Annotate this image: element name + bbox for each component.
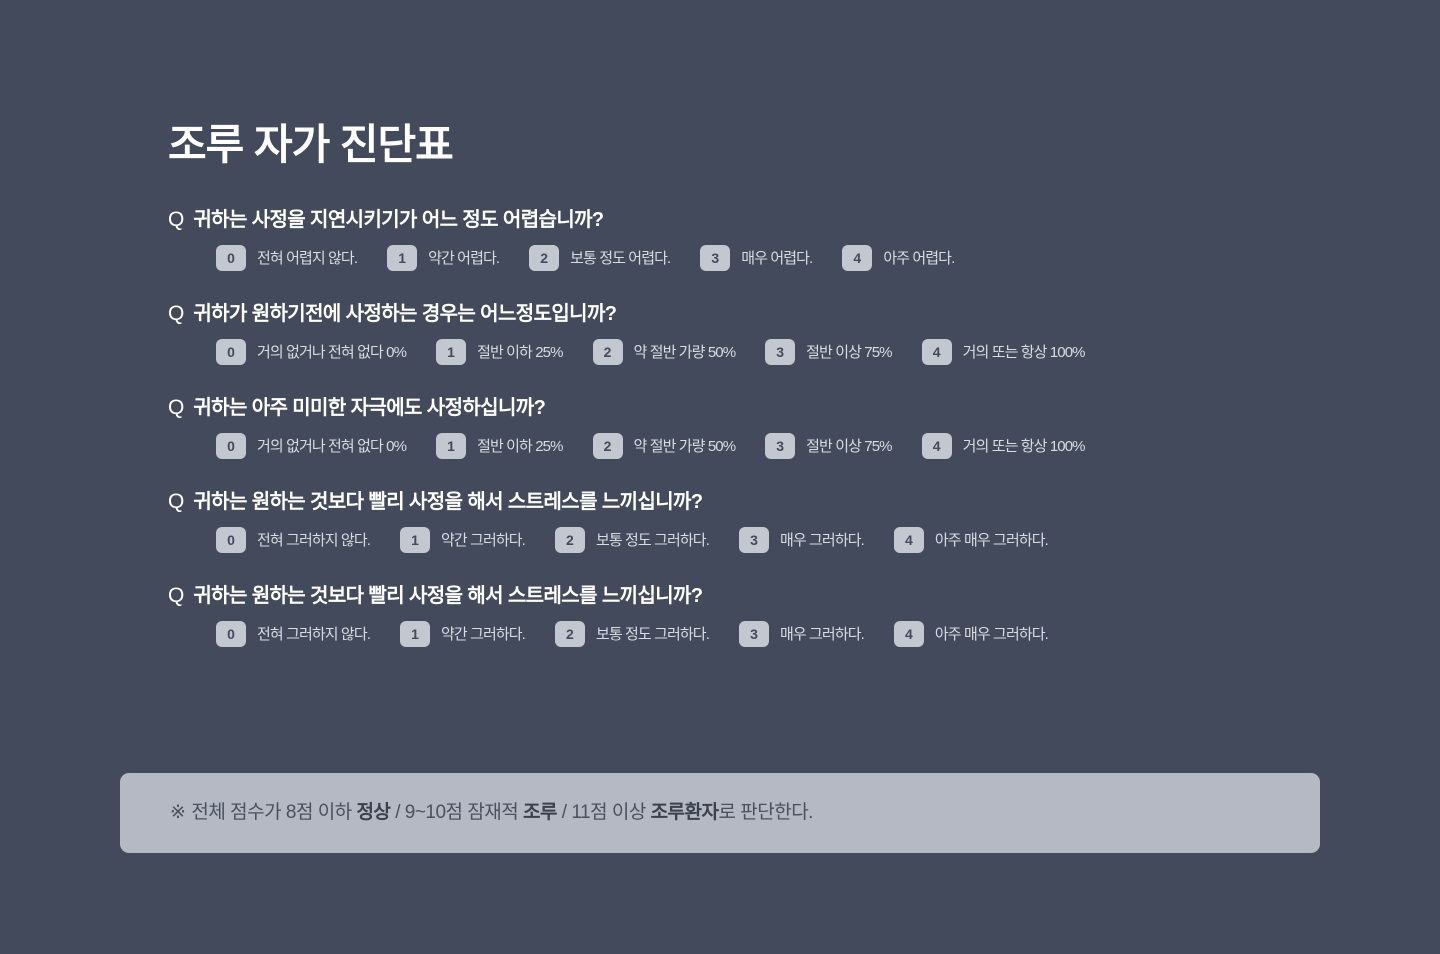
question-marker-icon: Q <box>168 491 184 512</box>
question-block: Q귀하는 사정을 지연시키기가 어느 정도 어렵습니까?0전혀 어렵지 않다.1… <box>168 208 1288 271</box>
question-marker-icon: Q <box>168 397 184 418</box>
answer-score-badge[interactable]: 2 <box>529 245 559 271</box>
answer-label[interactable]: 약간 어렵다. <box>428 251 499 266</box>
answer-score-badge[interactable]: 3 <box>700 245 730 271</box>
note-mark-icon: ※ <box>170 802 185 823</box>
answer-option[interactable]: 1약간 어렵다. <box>387 245 499 271</box>
answer-label[interactable]: 매우 그러하다. <box>780 627 864 642</box>
answer-label[interactable]: 전혀 어렵지 않다. <box>257 251 357 266</box>
note-segment: / 9~10점 잠재적 <box>390 802 523 823</box>
answer-label[interactable]: 매우 그러하다. <box>780 533 864 548</box>
question-text: 귀하는 아주 미미한 자극에도 사정하십니까? <box>193 396 545 420</box>
answer-score-badge[interactable]: 0 <box>216 433 246 459</box>
answer-score-badge[interactable]: 4 <box>922 339 952 365</box>
answer-label[interactable]: 전혀 그러하지 않다. <box>257 533 370 548</box>
answer-label[interactable]: 거의 없거나 전혀 없다 0% <box>257 345 406 360</box>
answer-label[interactable]: 보통 정도 그러하다. <box>596 533 709 548</box>
answer-label[interactable]: 거의 또는 항상 100% <box>963 345 1085 360</box>
answer-option[interactable]: 0전혀 그러하지 않다. <box>216 527 370 553</box>
answer-label[interactable]: 거의 또는 항상 100% <box>963 439 1085 454</box>
answer-score-badge[interactable]: 2 <box>555 527 585 553</box>
answer-score-badge[interactable]: 3 <box>765 339 795 365</box>
answer-options: 0전혀 그러하지 않다.1약간 그러하다.2보통 정도 그러하다.3매우 그러하… <box>168 527 1288 553</box>
answer-score-badge[interactable]: 1 <box>436 433 466 459</box>
answer-score-badge[interactable]: 4 <box>894 621 924 647</box>
answer-label[interactable]: 아주 매우 그러하다. <box>935 627 1048 642</box>
answer-options: 0거의 없거나 전혀 없다 0%1절반 이하 25%2약 절반 가량 50%3절… <box>168 433 1288 459</box>
question-block: Q귀하가 원하기전에 사정하는 경우는 어느정도입니까?0거의 없거나 전혀 없… <box>168 302 1288 365</box>
note-emphasis: 정상 <box>356 802 390 823</box>
answer-options: 0거의 없거나 전혀 없다 0%1절반 이하 25%2약 절반 가량 50%3절… <box>168 339 1288 365</box>
answer-options: 0전혀 어렵지 않다.1약간 어렵다.2보통 정도 어렵다.3매우 어렵다.4아… <box>168 245 1288 271</box>
answer-option[interactable]: 0전혀 어렵지 않다. <box>216 245 357 271</box>
page-title: 조루 자가 진단표 <box>168 120 453 170</box>
answer-option[interactable]: 3절반 이상 75% <box>765 433 891 459</box>
answer-score-badge[interactable]: 0 <box>216 621 246 647</box>
answer-label[interactable]: 절반 이하 25% <box>477 439 562 454</box>
question-text: 귀하는 사정을 지연시키기가 어느 정도 어렵습니까? <box>193 208 603 232</box>
answer-option[interactable]: 0거의 없거나 전혀 없다 0% <box>216 339 406 365</box>
answer-score-badge[interactable]: 2 <box>593 433 623 459</box>
answer-score-badge[interactable]: 0 <box>216 527 246 553</box>
question-block: Q귀하는 원하는 것보다 빨리 사정을 해서 스트레스를 느끼십니까?0전혀 그… <box>168 490 1288 553</box>
answer-score-badge[interactable]: 1 <box>387 245 417 271</box>
answer-label[interactable]: 약간 그러하다. <box>441 533 525 548</box>
answer-score-badge[interactable]: 4 <box>894 527 924 553</box>
answer-option[interactable]: 2보통 정도 그러하다. <box>555 621 709 647</box>
answer-option[interactable]: 3매우 어렵다. <box>700 245 812 271</box>
question-text: 귀하가 원하기전에 사정하는 경우는 어느정도입니까? <box>193 302 616 326</box>
question-marker-icon: Q <box>168 209 184 230</box>
answer-label[interactable]: 약 절반 가량 50% <box>634 345 736 360</box>
answer-score-badge[interactable]: 3 <box>765 433 795 459</box>
answer-option[interactable]: 1약간 그러하다. <box>400 621 525 647</box>
answer-option[interactable]: 4아주 매우 그러하다. <box>894 527 1048 553</box>
answer-option[interactable]: 2보통 정도 어렵다. <box>529 245 670 271</box>
note-segment: / 11점 이상 <box>557 802 651 823</box>
answer-label[interactable]: 절반 이상 75% <box>806 345 891 360</box>
answer-label[interactable]: 보통 정도 어렵다. <box>570 251 670 266</box>
answer-label[interactable]: 아주 매우 그러하다. <box>935 533 1048 548</box>
question-heading: Q귀하는 원하는 것보다 빨리 사정을 해서 스트레스를 느끼십니까? <box>168 490 1288 514</box>
answer-label[interactable]: 약 절반 가량 50% <box>634 439 736 454</box>
note-segment: 전체 점수가 8점 이하 <box>191 802 356 823</box>
answer-label[interactable]: 보통 정도 그러하다. <box>596 627 709 642</box>
answer-score-badge[interactable]: 1 <box>400 621 430 647</box>
answer-option[interactable]: 0거의 없거나 전혀 없다 0% <box>216 433 406 459</box>
question-heading: Q귀하가 원하기전에 사정하는 경우는 어느정도입니까? <box>168 302 1288 326</box>
answer-option[interactable]: 3매우 그러하다. <box>739 527 864 553</box>
diagnosis-sheet: 조루 자가 진단표 Q귀하는 사정을 지연시키기가 어느 정도 어렵습니까?0전… <box>0 0 1440 954</box>
question-heading: Q귀하는 아주 미미한 자극에도 사정하십니까? <box>168 396 1288 420</box>
answer-option[interactable]: 3절반 이상 75% <box>765 339 891 365</box>
answer-option[interactable]: 4아주 어렵다. <box>842 245 954 271</box>
question-text: 귀하는 원하는 것보다 빨리 사정을 해서 스트레스를 느끼십니까? <box>193 584 702 608</box>
scoring-note-panel: ※전체 점수가 8점 이하 정상 / 9~10점 잠재적 조루 / 11점 이상… <box>120 773 1320 853</box>
note-emphasis: 조루 <box>523 802 557 823</box>
answer-score-badge[interactable]: 0 <box>216 245 246 271</box>
question-text: 귀하는 원하는 것보다 빨리 사정을 해서 스트레스를 느끼십니까? <box>193 490 702 514</box>
note-emphasis: 조루환자 <box>651 802 719 823</box>
answer-option[interactable]: 4거의 또는 항상 100% <box>922 339 1085 365</box>
answer-option[interactable]: 0전혀 그러하지 않다. <box>216 621 370 647</box>
answer-options: 0전혀 그러하지 않다.1약간 그러하다.2보통 정도 그러하다.3매우 그러하… <box>168 621 1288 647</box>
answer-option[interactable]: 3매우 그러하다. <box>739 621 864 647</box>
answer-option[interactable]: 4거의 또는 항상 100% <box>922 433 1085 459</box>
answer-score-badge[interactable]: 3 <box>739 527 769 553</box>
answer-score-badge[interactable]: 4 <box>922 433 952 459</box>
answer-option[interactable]: 1절반 이하 25% <box>436 339 562 365</box>
answer-option[interactable]: 4아주 매우 그러하다. <box>894 621 1048 647</box>
answer-score-badge[interactable]: 2 <box>593 339 623 365</box>
answer-option[interactable]: 2약 절반 가량 50% <box>593 433 736 459</box>
answer-label[interactable]: 아주 어렵다. <box>883 251 954 266</box>
answer-option[interactable]: 1약간 그러하다. <box>400 527 525 553</box>
answer-option[interactable]: 1절반 이하 25% <box>436 433 562 459</box>
question-marker-icon: Q <box>168 303 184 324</box>
question-list: Q귀하는 사정을 지연시키기가 어느 정도 어렵습니까?0전혀 어렵지 않다.1… <box>168 208 1288 647</box>
question-block: Q귀하는 아주 미미한 자극에도 사정하십니까?0거의 없거나 전혀 없다 0%… <box>168 396 1288 459</box>
answer-label[interactable]: 절반 이상 75% <box>806 439 891 454</box>
note-segment: 로 판단한다. <box>719 802 813 823</box>
answer-score-badge[interactable]: 0 <box>216 339 246 365</box>
answer-label[interactable]: 약간 그러하다. <box>441 627 525 642</box>
answer-label[interactable]: 절반 이하 25% <box>477 345 562 360</box>
answer-label[interactable]: 거의 없거나 전혀 없다 0% <box>257 439 406 454</box>
scoring-note-text: ※전체 점수가 8점 이하 정상 / 9~10점 잠재적 조루 / 11점 이상… <box>170 801 813 826</box>
answer-option[interactable]: 2보통 정도 그러하다. <box>555 527 709 553</box>
answer-label[interactable]: 전혀 그러하지 않다. <box>257 627 370 642</box>
answer-score-badge[interactable]: 1 <box>436 339 466 365</box>
answer-score-badge[interactable]: 3 <box>739 621 769 647</box>
answer-option[interactable]: 2약 절반 가량 50% <box>593 339 736 365</box>
answer-label[interactable]: 매우 어렵다. <box>741 251 812 266</box>
question-heading: Q귀하는 원하는 것보다 빨리 사정을 해서 스트레스를 느끼십니까? <box>168 584 1288 608</box>
answer-score-badge[interactable]: 4 <box>842 245 872 271</box>
question-block: Q귀하는 원하는 것보다 빨리 사정을 해서 스트레스를 느끼십니까?0전혀 그… <box>168 584 1288 647</box>
answer-score-badge[interactable]: 1 <box>400 527 430 553</box>
question-marker-icon: Q <box>168 585 184 606</box>
answer-score-badge[interactable]: 2 <box>555 621 585 647</box>
question-heading: Q귀하는 사정을 지연시키기가 어느 정도 어렵습니까? <box>168 208 1288 232</box>
